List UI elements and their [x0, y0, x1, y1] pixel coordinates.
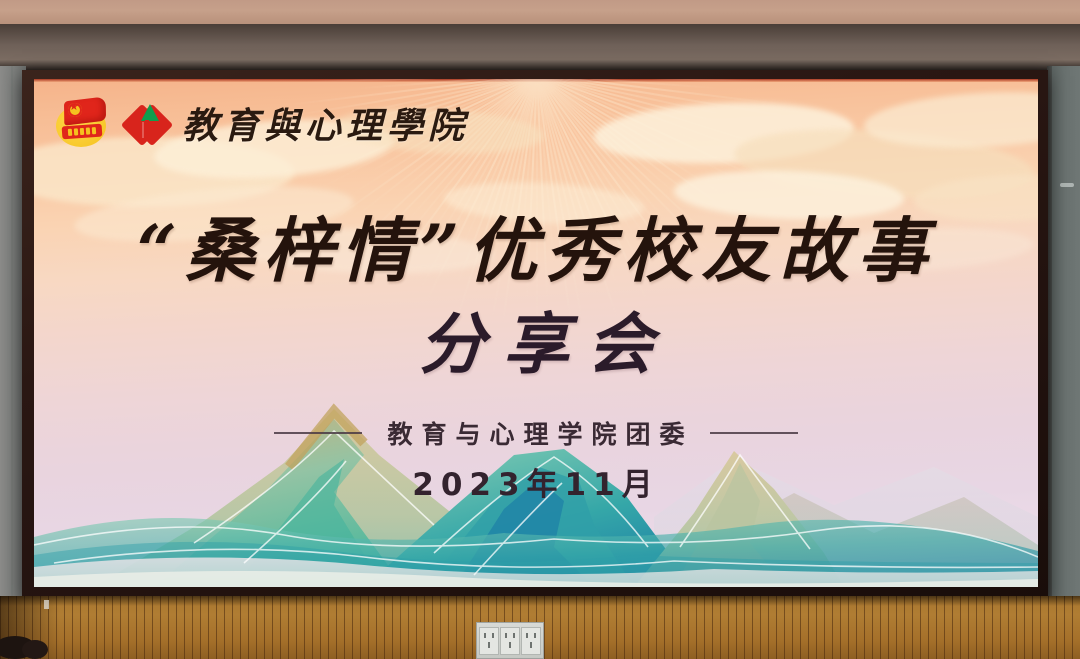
communist-youth-league-emblem-icon [54, 97, 112, 149]
right-wall-panel [1052, 66, 1080, 596]
upper-wall [0, 0, 1080, 26]
foreground-object [22, 640, 48, 659]
organization-name: 教育與心理學院 [182, 97, 469, 149]
wood-wall-shadow [0, 596, 1080, 606]
subtitle-rule-left [274, 432, 362, 434]
outlet-socket[interactable] [521, 627, 541, 655]
wall-power-outlet[interactable] [476, 622, 544, 659]
room-scene: 教育與心理學院 “桑梓情”优秀校友故事 分享会 教育与心理学院团委 2023年1… [0, 0, 1080, 659]
wall-shadow-band [0, 24, 1080, 70]
subtitle-row: 教育与心理学院团委 [34, 415, 1038, 451]
door-handle[interactable] [1060, 183, 1074, 187]
projection-screen: 教育與心理學院 “桑梓情”优秀校友故事 分享会 教育与心理学院团委 2023年1… [34, 79, 1038, 587]
left-wall-seam [11, 66, 13, 596]
slide-date: 2023年11月 [34, 459, 1038, 504]
projection-screen-bezel: 教育與心理學院 “桑梓情”优秀校友故事 分享会 教育与心理学院团委 2023年1… [22, 70, 1048, 598]
slide-subtitle: 教育与心理学院团委 [378, 415, 693, 451]
slide-header: 教育與心理學院 [54, 97, 469, 149]
outlet-socket[interactable] [479, 627, 499, 655]
wall-marker [44, 600, 49, 609]
outlet-socket[interactable] [500, 627, 520, 655]
slide-title-line2: 分享会 [34, 291, 1038, 387]
slide-title-line1: “桑梓情”优秀校友故事 [34, 195, 1038, 296]
college-logo-icon [124, 100, 170, 146]
subtitle-rule-right [710, 432, 798, 434]
